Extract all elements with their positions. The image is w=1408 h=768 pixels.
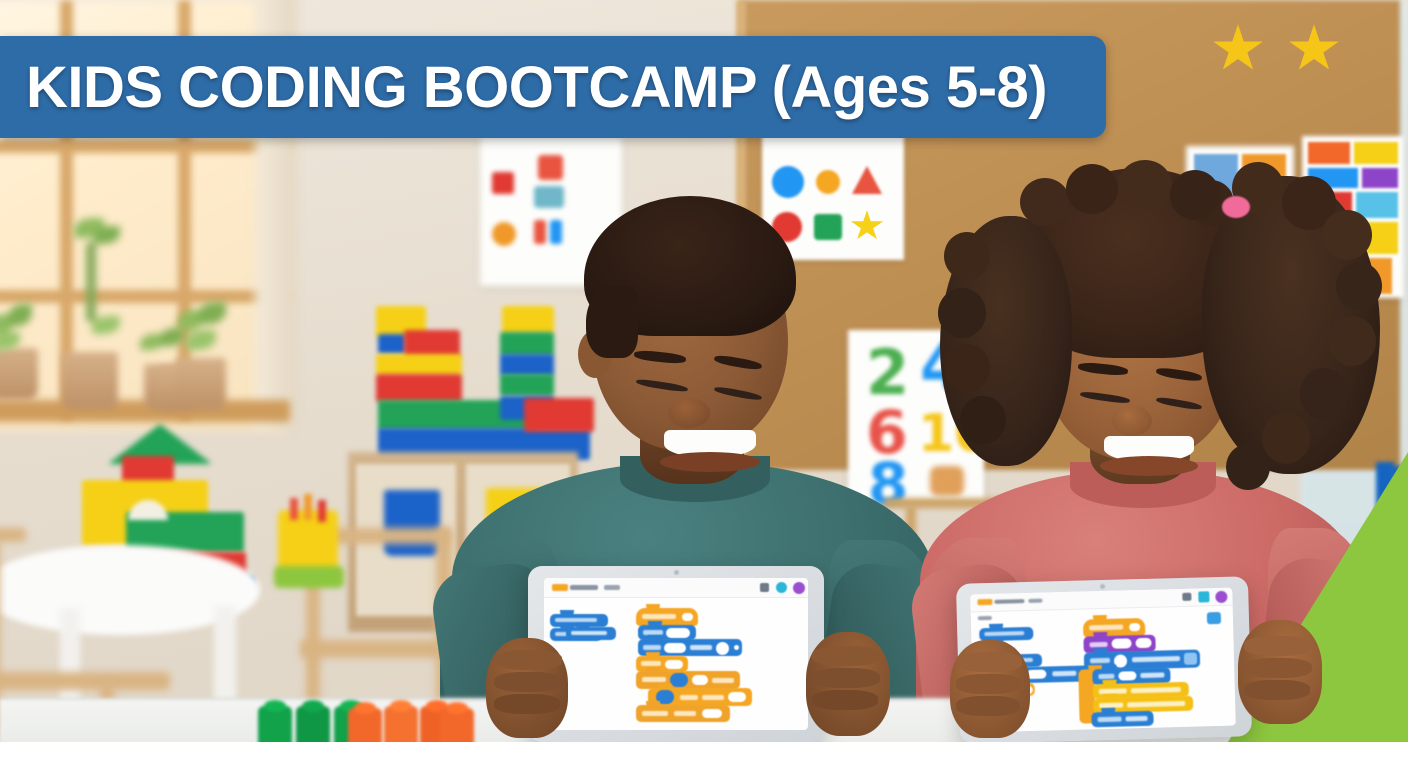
- boy-hairline: [586, 286, 638, 358]
- toy-block: [524, 398, 594, 432]
- toy-block: [500, 354, 554, 376]
- bottom-white-strip: [0, 742, 1408, 768]
- girl-hair-curl: [1020, 178, 1070, 226]
- block-label: [1098, 674, 1114, 679]
- artwork-swatch: [1362, 168, 1398, 188]
- tablet-camera: [1100, 584, 1105, 589]
- block-value: [1129, 623, 1140, 631]
- boy-finger: [496, 650, 562, 670]
- block-operator[interactable]: [670, 673, 688, 687]
- banner-title-text: KIDS CODING BOOTCAMP (Ages 5-8): [0, 54, 1047, 121]
- app-title-text: [570, 585, 598, 590]
- girl-hair-curl: [1118, 160, 1172, 210]
- boy-finger: [494, 694, 560, 714]
- potted-plant: [62, 216, 132, 358]
- page-icon[interactable]: [1198, 591, 1209, 602]
- wooden-chair: [0, 528, 26, 542]
- girl-hair-curl: [1300, 368, 1348, 420]
- artwork-swatch: [1354, 142, 1398, 164]
- toy-block: [376, 374, 462, 402]
- block-label: [1140, 672, 1164, 678]
- menu-label: [1028, 599, 1042, 603]
- toy-block-green: [296, 706, 330, 742]
- tablet-left[interactable]: [528, 566, 824, 742]
- toy-block: [502, 306, 554, 334]
- play-icon[interactable]: [776, 582, 787, 593]
- scratch-logo: [977, 599, 992, 605]
- avatar-icon[interactable]: [793, 582, 805, 594]
- toy-block: [500, 332, 554, 356]
- pencil: [290, 498, 298, 520]
- block-label: [642, 677, 666, 682]
- tablet-camera: [674, 570, 679, 575]
- block-label: [642, 711, 668, 716]
- pencil-cup-base: [274, 566, 344, 588]
- girl-hair-curl: [1170, 170, 1220, 220]
- block-input-field[interactable]: [666, 628, 690, 638]
- boy-finger: [812, 646, 880, 666]
- girl-finger: [956, 674, 1022, 694]
- block-dropdown[interactable]: [716, 642, 729, 655]
- block-label: [641, 661, 661, 666]
- girl-hair-curl: [938, 288, 986, 338]
- poster-icon: [550, 220, 562, 244]
- artwork-swatch: [1308, 142, 1350, 164]
- toy-block: [500, 374, 554, 396]
- block-input-field[interactable]: [664, 643, 686, 653]
- stage-thumb[interactable]: [1207, 612, 1221, 624]
- pencil: [304, 494, 312, 520]
- block-dropdown[interactable]: [1184, 653, 1197, 665]
- title-banner: KIDS CODING BOOTCAMP (Ages 5-8): [0, 36, 1106, 138]
- toy-block: [378, 334, 406, 354]
- girl-hair-curl: [944, 344, 990, 392]
- poster-shape-square: [814, 214, 842, 240]
- block-label: [702, 695, 724, 700]
- block-label: [1090, 658, 1110, 664]
- poster-shape-circle: [816, 170, 840, 194]
- girl-finger: [956, 696, 1020, 716]
- storage-bin-blue: [384, 490, 440, 556]
- poster-canvas: 2 4 6 10 8: [0, 0, 1408, 768]
- block-label: [1052, 671, 1076, 677]
- tablet-left-screen[interactable]: [544, 578, 808, 730]
- block-input-field[interactable]: [728, 692, 746, 702]
- scratch-logo: [552, 584, 568, 591]
- block-input-field[interactable]: [692, 675, 708, 685]
- girl-lip: [1100, 456, 1198, 476]
- block-label: [674, 711, 696, 716]
- block-input-field[interactable]: [1118, 671, 1136, 680]
- toy-block-orange: [384, 706, 418, 742]
- flag-icon[interactable]: [760, 583, 769, 592]
- poster-shape-triangle: [852, 166, 882, 194]
- poster-shape-circle: [772, 166, 804, 198]
- boy-finger: [812, 668, 880, 688]
- block-input-field[interactable]: [1135, 638, 1151, 648]
- block-marker: [734, 645, 739, 650]
- wooden-chair: [0, 672, 170, 690]
- pencil: [318, 500, 326, 522]
- toy-block-orange: [440, 708, 474, 742]
- flag-icon[interactable]: [1182, 593, 1191, 601]
- block-value: [682, 613, 693, 621]
- block-label: [1097, 717, 1121, 723]
- block-input-field[interactable]: [665, 660, 683, 669]
- block-label: [1090, 642, 1108, 647]
- potted-plant: [0, 300, 48, 358]
- potted-plant: [172, 300, 236, 362]
- boy-finger: [812, 690, 878, 710]
- girl-hair-curl: [1262, 412, 1310, 464]
- block-input-field[interactable]: [702, 709, 722, 718]
- hair-tie: [1222, 196, 1250, 218]
- poster-icon: [492, 222, 516, 246]
- poster-icon: [534, 186, 564, 208]
- flower-pot: [176, 358, 226, 410]
- toy-block-green: [258, 706, 292, 742]
- block-label: [690, 645, 712, 650]
- block-label: [643, 645, 661, 650]
- girl-finger: [1244, 680, 1310, 700]
- block-label: [680, 695, 698, 700]
- girl-hair-curl: [944, 232, 990, 280]
- girl-hair-curl: [960, 396, 1006, 444]
- small-toy: [930, 466, 964, 496]
- girl-hair-curl: [1328, 316, 1376, 366]
- girl-hair-curl: [1226, 444, 1270, 490]
- block-label: [1125, 716, 1147, 722]
- window-mullion: [0, 140, 290, 153]
- girl-finger: [1244, 658, 1312, 678]
- poster-icon: [492, 172, 514, 194]
- girl-hair-curl: [1336, 262, 1382, 310]
- block-label: [712, 678, 734, 683]
- poster-icon: [534, 220, 546, 244]
- panel-label: [978, 616, 992, 620]
- block-label: [571, 631, 607, 635]
- flower-pot: [62, 352, 118, 410]
- girl-hair-curl: [1322, 210, 1372, 260]
- toy-block: [376, 354, 462, 376]
- boy-finger: [494, 672, 562, 692]
- boy-nose: [668, 398, 710, 428]
- poster-icon: [538, 155, 563, 180]
- menu-label: [604, 585, 620, 590]
- app-title-text: [994, 599, 1024, 604]
- artwork-swatch: [1356, 192, 1398, 218]
- block-label: [1089, 624, 1123, 630]
- block-label: [555, 618, 597, 622]
- girl-hair-curl: [1066, 164, 1118, 214]
- block-input-field[interactable]: [1111, 638, 1131, 649]
- girl-finger: [1244, 636, 1312, 656]
- girl-finger: [958, 652, 1022, 672]
- toy-block-orange: [348, 708, 382, 742]
- boy-lip: [660, 452, 760, 472]
- girl-nose: [1112, 406, 1152, 436]
- block-label: [642, 614, 676, 619]
